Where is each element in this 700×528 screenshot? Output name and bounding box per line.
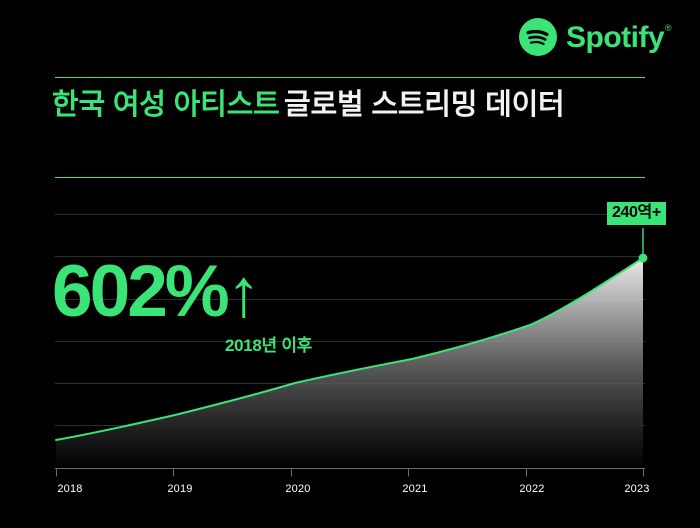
- endpoint-value-badge: 240역+: [607, 202, 666, 225]
- x-axis-label-2019: 2019: [167, 483, 192, 495]
- x-axis-label-2020: 2020: [285, 483, 310, 495]
- chart-endpoint-dot: [639, 254, 648, 263]
- growth-stat-caption: 2018년 이후: [52, 331, 320, 356]
- infographic-canvas: Spotify® 한국 여성 아티스트 글로벌 스트리밍 데이터: [0, 0, 700, 528]
- x-axis-label-2018: 2018: [57, 483, 82, 495]
- chart-x-axis-ticks: [57, 469, 644, 477]
- x-axis-label-2021: 2021: [402, 483, 427, 495]
- x-axis-label-2022: 2022: [519, 483, 544, 495]
- up-arrow-icon: ↑: [227, 255, 259, 331]
- growth-percentage-value: 602%: [52, 251, 227, 332]
- growth-stat-block: 602%↑ 2018년 이후: [52, 258, 320, 356]
- growth-percentage: 602%↑: [52, 258, 320, 325]
- x-axis-label-2023: 2023: [624, 483, 649, 495]
